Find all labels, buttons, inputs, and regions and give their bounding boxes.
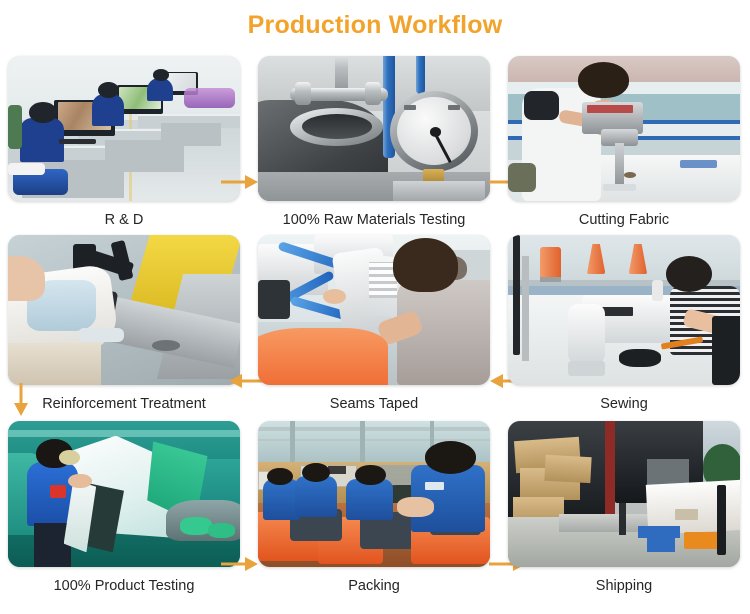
step-label-raw-materials-testing: 100% Raw Materials Testing xyxy=(283,210,466,230)
production-workflow-infographic: Production Workflow xyxy=(0,0,750,614)
workflow-row-1: R & D xyxy=(0,56,750,235)
photo-brother-sewing-machine xyxy=(508,235,740,385)
step-label-packing: Packing xyxy=(348,576,400,596)
workflow-row-2: Reinforcement Treatment xyxy=(0,235,750,421)
step-label-shipping: Shipping xyxy=(596,576,652,596)
photo-design-office xyxy=(8,56,240,201)
photo-fabric-cutting-machine xyxy=(508,56,740,201)
step-label-reinforcement-treatment: Reinforcement Treatment xyxy=(42,394,206,414)
step-label-seams-taped: Seams Taped xyxy=(330,394,418,414)
workflow-grid: R & D xyxy=(0,56,750,614)
step-card-cutting-fabric[interactable]: Cutting Fabric xyxy=(508,56,740,235)
photo-hydrostatic-test-rig xyxy=(258,56,490,201)
step-label-sewing: Sewing xyxy=(600,394,648,414)
step-card-shipping[interactable]: Shipping xyxy=(508,421,740,614)
step-card-reinforcement-treatment[interactable]: Reinforcement Treatment xyxy=(8,235,240,421)
step-card-seams-taped[interactable]: Seams Taped xyxy=(258,235,490,421)
step-label-cutting-fabric: Cutting Fabric xyxy=(579,210,669,230)
workflow-row-3: 100% Product Testing xyxy=(0,421,750,614)
photo-loading-dock-truck xyxy=(508,421,740,567)
page-title: Production Workflow xyxy=(0,8,750,42)
step-label-product-testing: 100% Product Testing xyxy=(54,576,195,596)
step-label-rd: R & D xyxy=(105,210,144,230)
photo-reinforcement-press xyxy=(8,235,240,385)
step-card-sewing[interactable]: Sewing xyxy=(508,235,740,421)
photo-packing-line xyxy=(258,421,490,567)
step-card-rd[interactable]: R & D xyxy=(8,56,240,235)
photo-seam-taping-machine xyxy=(258,235,490,385)
step-card-product-testing[interactable]: 100% Product Testing xyxy=(8,421,240,614)
photo-product-inspection xyxy=(8,421,240,567)
step-card-packing[interactable]: Packing xyxy=(258,421,490,614)
step-card-raw-materials-testing[interactable]: 100% Raw Materials Testing xyxy=(258,56,490,235)
